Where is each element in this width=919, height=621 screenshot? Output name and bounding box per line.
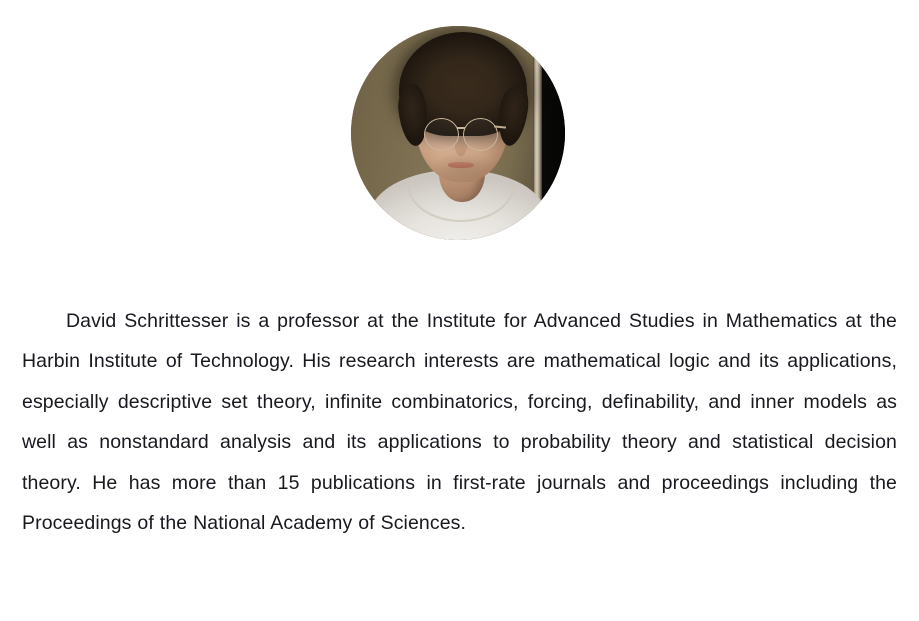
eyeglasses-bridge — [457, 127, 465, 129]
eyeglasses-lens-left — [424, 118, 459, 151]
portrait-photo — [351, 26, 565, 240]
profile-page: David Schrittesser is a professor at the… — [0, 0, 919, 621]
eyeglasses-lens-right — [463, 118, 498, 151]
portrait-photo-container — [351, 26, 565, 240]
subject-mouth — [448, 162, 474, 168]
biography-paragraph: David Schrittesser is a professor at the… — [22, 301, 897, 544]
